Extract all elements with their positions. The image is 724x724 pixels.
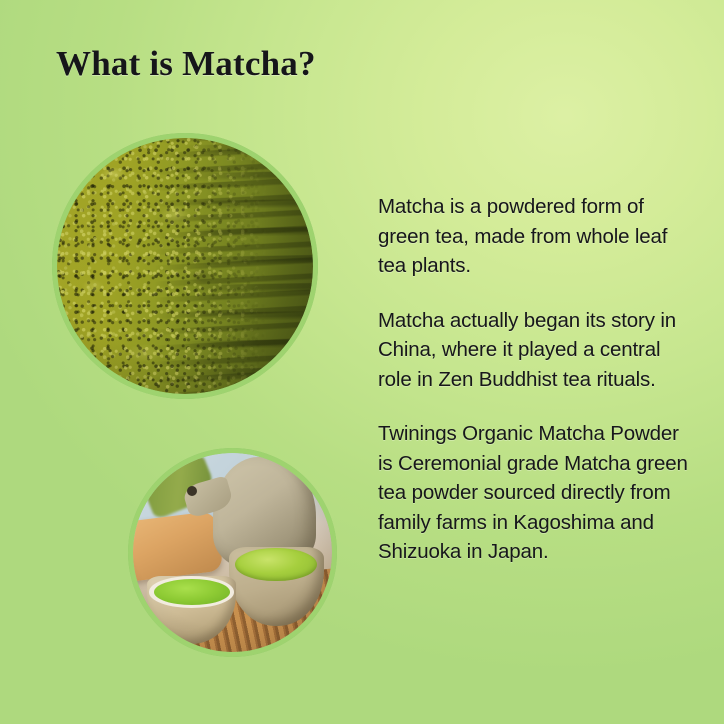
matcha-powder-photo-inner: [57, 138, 313, 394]
body-copy: Matcha is a powdered form of green tea, …: [378, 192, 690, 567]
matcha-tea-set-photo: [128, 448, 337, 657]
page-title: What is Matcha?: [56, 44, 316, 84]
matcha-tea-set-photo-inner: [133, 453, 332, 652]
paragraph-definition: Matcha is a powdered form of green tea, …: [378, 192, 690, 281]
infographic-card: What is Matcha?: [0, 0, 724, 724]
paragraph-product-origin: Twinings Organic Matcha Powder is Ceremo…: [378, 419, 690, 567]
matcha-powder-photo: [52, 133, 318, 399]
powder-vignette: [57, 138, 313, 394]
paragraph-history: Matcha actually began its story in China…: [378, 306, 690, 395]
tea-scene-vignette: [133, 453, 332, 652]
